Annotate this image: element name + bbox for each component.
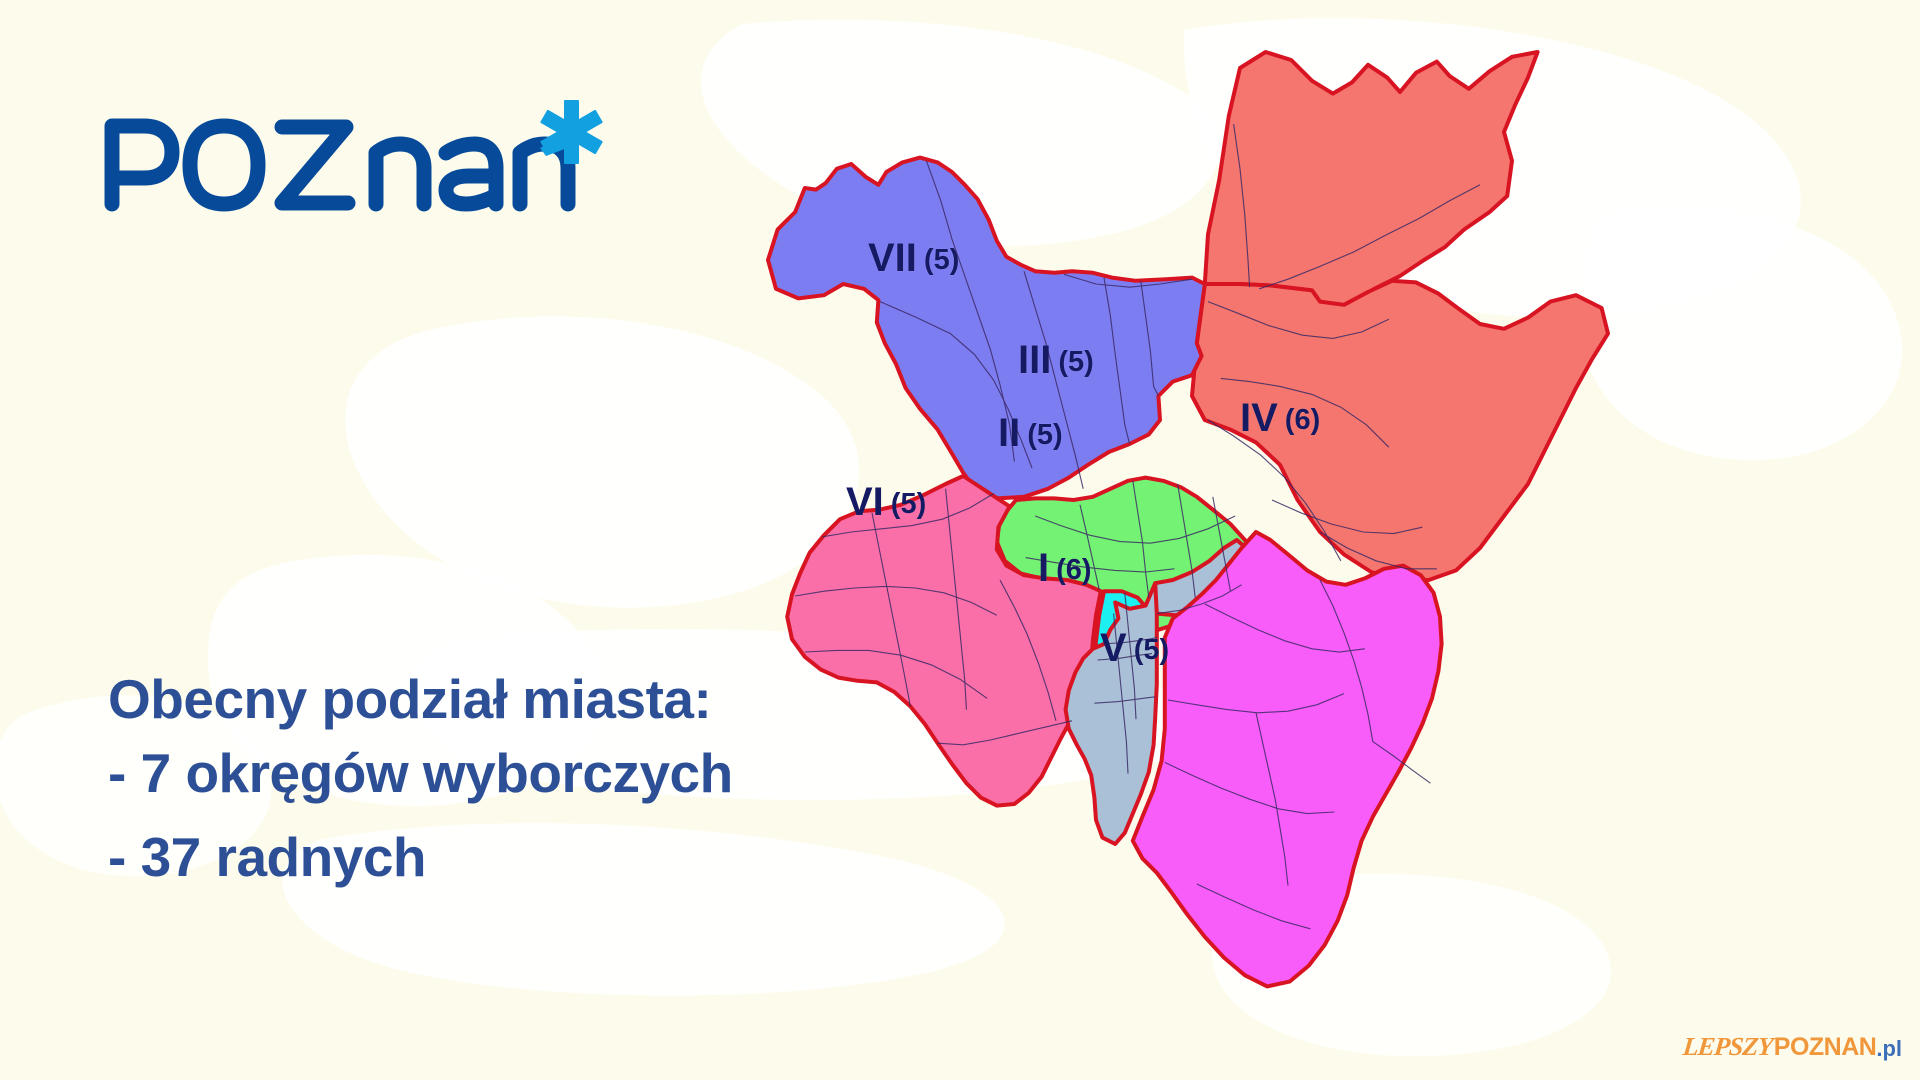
- district-shape-IV[interactable]: [1205, 52, 1538, 308]
- district-label-III: III(5): [1018, 340, 1094, 380]
- district-label-VII: VII(5): [868, 238, 959, 278]
- district-roman-II: II: [998, 411, 1020, 455]
- district-seats-I: (6): [1056, 554, 1091, 586]
- district-roman-VII: VII: [868, 236, 917, 280]
- district-seats-IV: (6): [1285, 404, 1320, 436]
- slide-canvas: Obecny podział miasta: - 7 okręgów wybor…: [0, 0, 1920, 1080]
- district-seats-III: (5): [1058, 346, 1093, 378]
- lepszypoznan-watermark[interactable]: LEPSZY POZNAN .pl: [1683, 1020, 1902, 1066]
- district-roman-V: V: [1100, 626, 1127, 670]
- district-roman-VI: VI: [846, 480, 884, 524]
- district-seats-II: (5): [1027, 419, 1062, 451]
- poznan-electoral-districts-map: VII(5) III(5) II(5) I(6) IV(6) V(5) VI(5…: [760, 20, 1880, 1060]
- asterisk-icon: [540, 100, 603, 164]
- watermark-script-text: LEPSZY: [1682, 1032, 1774, 1062]
- watermark-tld-text: .pl: [1876, 1036, 1902, 1062]
- district-seats-VI: (5): [891, 488, 926, 520]
- district-seats-VII: (5): [924, 244, 959, 276]
- district-label-VI: VI(5): [846, 482, 926, 522]
- district-roman-III: III: [1018, 338, 1051, 382]
- district-label-IV: IV(6): [1240, 398, 1320, 438]
- district-roman-IV: IV: [1240, 396, 1278, 440]
- district-label-V: V(5): [1100, 628, 1169, 668]
- district-roman-I: I: [1038, 546, 1049, 590]
- district-label-II: II(5): [998, 413, 1063, 453]
- watermark-bold-text: POZNAN: [1774, 1033, 1877, 1062]
- district-seats-V: (5): [1134, 634, 1169, 666]
- poznan-logo: [100, 96, 620, 216]
- district-shape-VII[interactable]: [768, 158, 1205, 499]
- district-label-I: I(6): [1038, 548, 1092, 588]
